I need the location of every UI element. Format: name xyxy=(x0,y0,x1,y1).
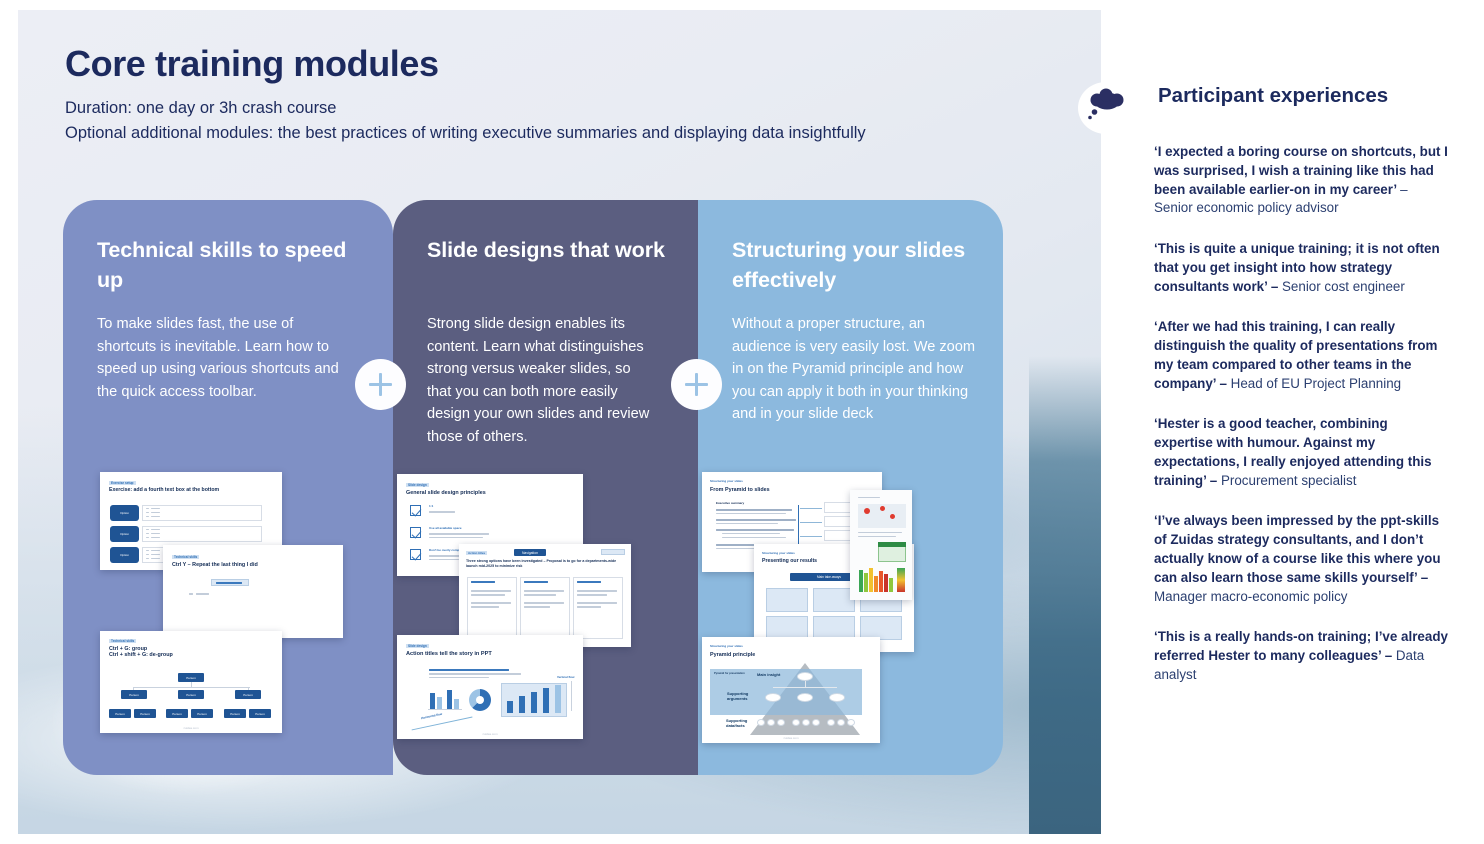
summary-line xyxy=(722,533,780,534)
org-leaf: Person xyxy=(109,709,131,718)
thumb-title: Action titles tell the story in PPT xyxy=(406,651,492,657)
table-col xyxy=(520,577,570,639)
org-leaf: Person xyxy=(134,709,156,718)
report-line xyxy=(858,532,902,533)
thumb-title: Exercise: add a fourth text box at the b… xyxy=(109,488,219,494)
summary-line xyxy=(722,537,786,538)
summary-line xyxy=(716,519,796,521)
plus-icon-connector-2 xyxy=(671,359,722,410)
table-head-line xyxy=(471,581,495,583)
table-line xyxy=(524,594,556,596)
summary-line xyxy=(716,529,794,531)
thumb-eyebrow: Structuring your slides xyxy=(710,480,743,483)
summary-line xyxy=(716,513,786,514)
thumb-eyebrow: Slide design xyxy=(406,644,429,648)
thumb-diagonal-note: Horizontal flow xyxy=(421,713,443,720)
module-3-heading: Structuring your slides effectively xyxy=(732,236,977,295)
check-icon xyxy=(410,505,421,516)
thumb-side-note: Vertical flow xyxy=(557,676,575,679)
pyramid-leaf xyxy=(847,719,855,726)
org-node-root: Person xyxy=(178,673,204,682)
pyramid-node xyxy=(765,693,781,702)
thumbnail-data-report[interactable] xyxy=(850,490,912,600)
thumb-eyebrow: Action titles xyxy=(466,551,487,555)
testimonial-role: Senior cost engineer xyxy=(1282,279,1405,294)
pyramid-side-label: Pyramid for presentation xyxy=(714,673,745,676)
pyramid-node xyxy=(797,693,813,702)
thumb-line xyxy=(189,593,193,595)
org-connector xyxy=(248,687,249,690)
table-line xyxy=(577,606,601,608)
check-sub-line xyxy=(429,533,489,535)
bar xyxy=(879,571,883,592)
module-3-body: Without a proper structure, an audience … xyxy=(732,313,980,426)
testimonial-item: ‘I’ve always been impressed by the ppt-s… xyxy=(1154,512,1449,606)
header: Core training modules Duration: one day … xyxy=(65,44,1045,147)
thumb-title: General slide design principles xyxy=(406,490,486,496)
testimonial-item: ‘This is a really hands-on training; I’v… xyxy=(1154,628,1449,684)
thumb-title: Ctrl + G: group Ctrl + shift + G: de-gro… xyxy=(109,646,173,658)
table-line xyxy=(577,594,607,596)
testimonial-role: Procurement specialist xyxy=(1221,473,1356,488)
module-2-body: Strong slide design enables its content.… xyxy=(427,313,657,449)
legend-gradient xyxy=(897,568,905,592)
bar xyxy=(519,696,525,713)
org-node: Person xyxy=(178,690,204,699)
thumbnail-action-title-options[interactable]: Action titles Navigation Three strong op… xyxy=(459,544,631,647)
thumbnail-pyramid-principle[interactable]: Structuring your slides Pyramid principl… xyxy=(702,637,880,743)
testimonial-item: ‘I expected a boring course on shortcuts… xyxy=(1154,143,1449,218)
subtitle-line-duration: Duration: one day or 3h crash course xyxy=(65,96,1045,122)
org-node: Person xyxy=(121,690,147,699)
org-leaf: Person xyxy=(191,709,213,718)
table-line xyxy=(524,602,564,604)
table-line xyxy=(524,590,564,592)
table-col xyxy=(573,577,623,639)
content-block xyxy=(766,588,808,612)
thumb-subhead: Executive summary xyxy=(716,502,744,505)
pyramid-leaf xyxy=(777,719,785,726)
pyramid-connector xyxy=(773,687,837,688)
testimonial-role: Head of EU Project Planning xyxy=(1231,376,1401,391)
module-card-structuring-slides[interactable]: Structuring your slides effectively With… xyxy=(698,200,1003,775)
table-line xyxy=(471,606,499,608)
thumb-title: Ctrl Y – Repeat the last thing I did xyxy=(172,562,258,568)
mapping-line xyxy=(800,522,822,523)
org-leaf: Person xyxy=(224,709,246,718)
org-connector xyxy=(191,682,192,687)
module-columns: Technical skills to speed up To make sli… xyxy=(63,200,1003,775)
testimonial-list: ‘I expected a boring course on shortcuts… xyxy=(1154,143,1449,707)
thumb-title: Presenting our results xyxy=(762,559,817,565)
testimonial-item: ‘Hester is a good teacher, combining exp… xyxy=(1154,415,1449,490)
testimonial-text: ‘I’ve always been impressed by the ppt-s… xyxy=(1154,513,1441,584)
summary-line xyxy=(716,523,778,524)
check-head: 1:1 xyxy=(429,505,433,508)
page-subtitle: Duration: one day or 3h crash course Opt… xyxy=(65,96,1045,147)
thought-bubble-icon xyxy=(1078,82,1134,134)
table-line xyxy=(577,602,617,604)
subtitle-line-optional-modules: Optional additional modules: the best pr… xyxy=(65,121,1045,147)
testimonial-role: Manager macro-economic policy xyxy=(1154,589,1348,604)
bar xyxy=(430,693,435,709)
pyramid-leaf xyxy=(812,719,820,726)
side-bracket xyxy=(571,681,572,711)
map-marker xyxy=(890,514,895,519)
page-title: Core training modules xyxy=(65,44,1045,84)
check-icon xyxy=(410,527,421,538)
check-head: Use all available space xyxy=(429,527,462,530)
pyramid-leaf xyxy=(837,719,845,726)
thumbnail-ctrl-y-repeat[interactable]: Technical skills Ctrl Y – Repeat the las… xyxy=(163,545,343,638)
table-line xyxy=(471,594,505,596)
thumb-footer: zuidas.com xyxy=(397,732,583,736)
report-line xyxy=(858,536,896,537)
table-line xyxy=(524,606,550,608)
thumb-eyebrow: Technical skills xyxy=(172,555,199,559)
check-icon xyxy=(410,549,421,560)
panel-title: Participant experiences xyxy=(1158,84,1388,108)
check-sub-line xyxy=(429,537,483,539)
map-marker xyxy=(864,508,870,514)
pyramid-leaf xyxy=(767,719,775,726)
thumb-eyebrow: Structuring your slides xyxy=(710,645,743,648)
module-card-technical-skills[interactable]: Technical skills to speed up To make sli… xyxy=(63,200,393,775)
report-line xyxy=(858,497,880,498)
thumb-chip-label xyxy=(216,582,242,584)
summary-line xyxy=(429,673,521,675)
bar xyxy=(889,578,893,592)
bar xyxy=(555,685,561,713)
org-leaf: Person xyxy=(166,709,188,718)
slide-canvas: Core training modules Duration: one day … xyxy=(0,0,1484,844)
org-node: Person xyxy=(235,690,261,699)
thumb-eyebrow: Exercise setup xyxy=(109,481,136,485)
pyramid-leaf xyxy=(802,719,810,726)
summary-line xyxy=(429,669,509,671)
thumb-badge: Navigation xyxy=(514,549,546,556)
thumb-row xyxy=(142,526,262,542)
pyramid-label-supporting-data: Supporting data/facts xyxy=(726,719,756,728)
module-2-heading: Slide designs that work xyxy=(427,236,672,266)
bar xyxy=(543,688,549,713)
table-line xyxy=(471,602,511,604)
donut-hole xyxy=(476,696,484,704)
bar xyxy=(454,699,459,709)
thumb-eyebrow: Structuring your slides xyxy=(762,552,795,555)
mapping-line xyxy=(800,508,822,509)
map-marker xyxy=(880,506,885,511)
pyramid-leaf xyxy=(792,719,800,726)
mapping-line xyxy=(800,536,822,537)
pyramid-connector xyxy=(805,681,806,687)
wave-edge-strip xyxy=(1029,356,1101,834)
thumb-footer: zuidas.com xyxy=(100,726,282,730)
org-leaf: Person xyxy=(249,709,271,718)
summary-line xyxy=(429,677,489,679)
thumb-option-block: Option xyxy=(110,547,139,563)
thumb-line xyxy=(196,593,209,595)
pyramid-label-supporting-arguments: Supporting arguments xyxy=(727,692,757,701)
thumb-option-block: Option xyxy=(110,505,139,521)
org-connector xyxy=(133,687,134,690)
bar xyxy=(869,568,873,592)
table-head-line xyxy=(577,581,601,583)
pyramid-leaf xyxy=(827,719,835,726)
thumb-eyebrow: Technical skills xyxy=(109,639,136,643)
check-sub-line xyxy=(429,511,455,513)
thumb-title: From Pyramid to slides xyxy=(710,487,770,493)
table-line xyxy=(471,590,511,592)
thumbnail-action-titles-story[interactable]: Slide design Action titles tell the stor… xyxy=(397,635,583,739)
bar xyxy=(437,697,442,709)
thumb-eyebrow: Slide design xyxy=(406,483,429,487)
thumb-option-block: Option xyxy=(110,526,139,542)
summary-line xyxy=(716,509,792,511)
thumb-title: Pyramid principle xyxy=(710,652,755,658)
bar xyxy=(531,692,537,713)
testimonial-item: ‘This is quite a unique training; it is … xyxy=(1154,240,1449,296)
bar xyxy=(864,573,868,592)
pyramid-label-main: Main insight xyxy=(757,673,780,678)
pyramid-leaf xyxy=(757,719,765,726)
testimonial-item: ‘After we had this training, I can reall… xyxy=(1154,318,1449,393)
table-col xyxy=(467,577,517,639)
thumb-tag xyxy=(601,549,625,555)
thumbnail-group-ungroup[interactable]: Technical skills Ctrl + G: group Ctrl + … xyxy=(100,631,282,733)
bar xyxy=(859,570,863,592)
bar xyxy=(507,701,513,713)
content-block xyxy=(813,588,855,612)
module-1-body: To make slides fast, the use of shortcut… xyxy=(97,313,345,403)
report-table-head xyxy=(878,542,906,547)
thumb-footer: zuidas.com xyxy=(702,736,880,740)
bar xyxy=(884,574,888,592)
table-line xyxy=(577,590,617,592)
thumb-row xyxy=(142,505,262,521)
pyramid-node-root xyxy=(797,672,813,681)
bar xyxy=(874,576,878,592)
table-head-line xyxy=(524,581,548,583)
bar xyxy=(447,690,452,709)
module-card-slide-designs[interactable]: Slide designs that work Strong slide des… xyxy=(393,200,698,775)
check-sub-line xyxy=(429,559,459,561)
thumb-title: Three strong options have been investiga… xyxy=(466,559,624,568)
module-1-heading: Technical skills to speed up xyxy=(97,236,367,295)
plus-icon-connector-1 xyxy=(355,359,406,410)
axis xyxy=(428,709,462,710)
pyramid-node xyxy=(829,693,845,702)
org-connector xyxy=(133,687,250,688)
